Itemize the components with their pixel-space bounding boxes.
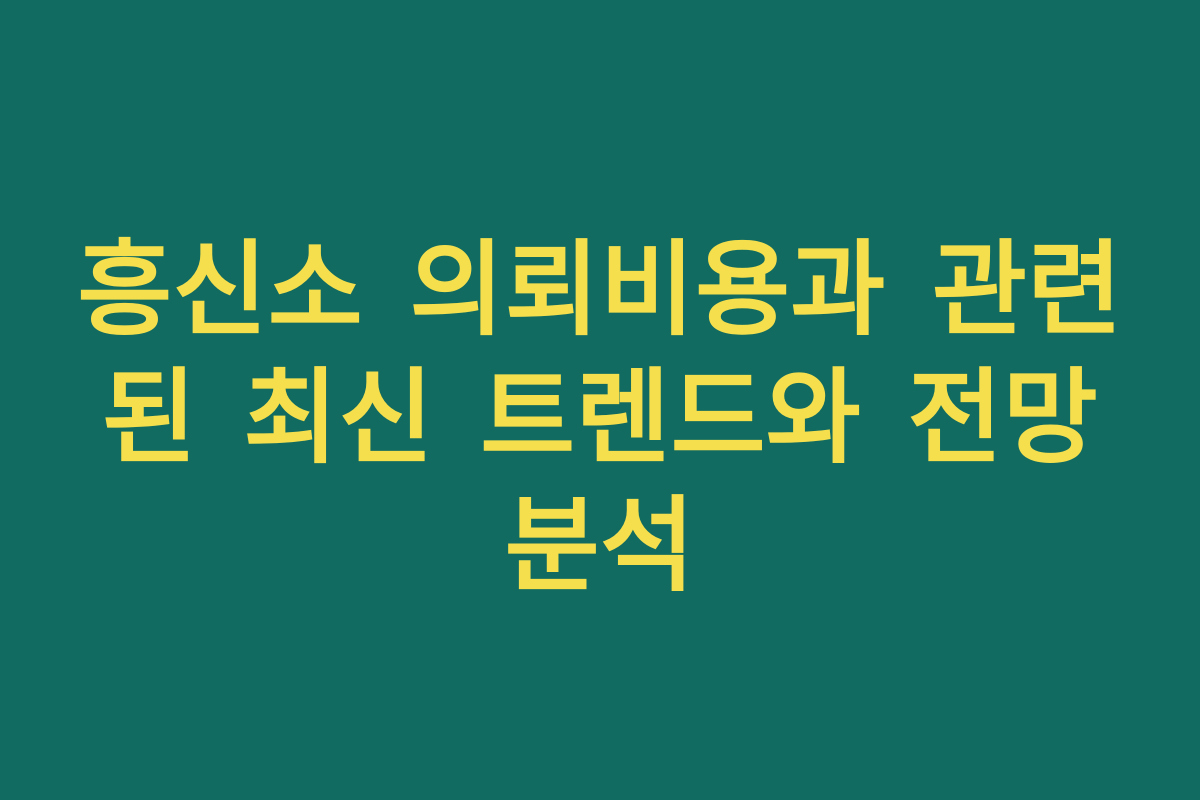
headline-line-1: 흥신소 의뢰비용과 관련 — [70, 226, 1130, 354]
headline-block: 흥신소 의뢰비용과 관련 된 최신 트렌드와 전망 분석 — [70, 226, 1130, 610]
headline-line-3: 분석 — [70, 482, 1130, 610]
title-card: 흥신소 의뢰비용과 관련 된 최신 트렌드와 전망 분석 — [0, 0, 1200, 800]
page-title: 흥신소 의뢰비용과 관련 된 최신 트렌드와 전망 분석 — [70, 226, 1130, 610]
headline-line-2: 된 최신 트렌드와 전망 — [70, 354, 1130, 482]
